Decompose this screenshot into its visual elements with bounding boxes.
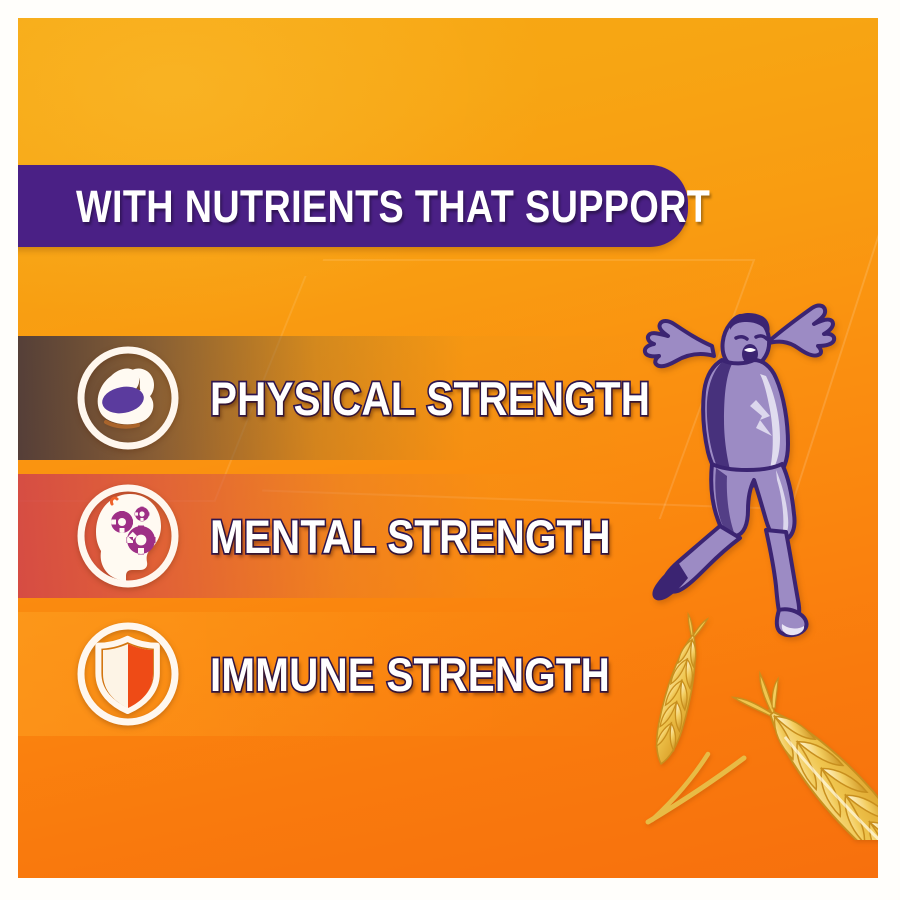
benefits-list: PHYSICAL STRENGTH bbox=[18, 336, 638, 750]
flexed-bicep-icon bbox=[70, 342, 186, 454]
headline-banner: WITH NUTRIENTS THAT SUPPORT bbox=[18, 165, 688, 247]
benefit-row-physical-strength: PHYSICAL STRENGTH bbox=[18, 336, 638, 460]
benefit-label-physical-strength: PHYSICAL STRENGTH bbox=[210, 375, 650, 422]
benefit-label-mental-strength: MENTAL STRENGTH bbox=[210, 513, 611, 560]
wheat-stalks-illustration bbox=[632, 578, 878, 840]
poster-canvas: WITH NUTRIENTS THAT SUPPORT PHYSICAL STR… bbox=[18, 18, 878, 878]
headline-text: WITH NUTRIENTS THAT SUPPORT bbox=[76, 184, 710, 229]
poster-frame: WITH NUTRIENTS THAT SUPPORT PHYSICAL STR… bbox=[0, 0, 900, 900]
benefit-row-mental-strength: MENTAL STRENGTH bbox=[18, 474, 638, 598]
shield-icon bbox=[70, 618, 186, 730]
benefit-row-immune-strength: IMMUNE STRENGTH bbox=[18, 612, 638, 736]
head-gears-icon bbox=[70, 480, 186, 592]
benefit-label-immune-strength: IMMUNE STRENGTH bbox=[210, 651, 610, 698]
